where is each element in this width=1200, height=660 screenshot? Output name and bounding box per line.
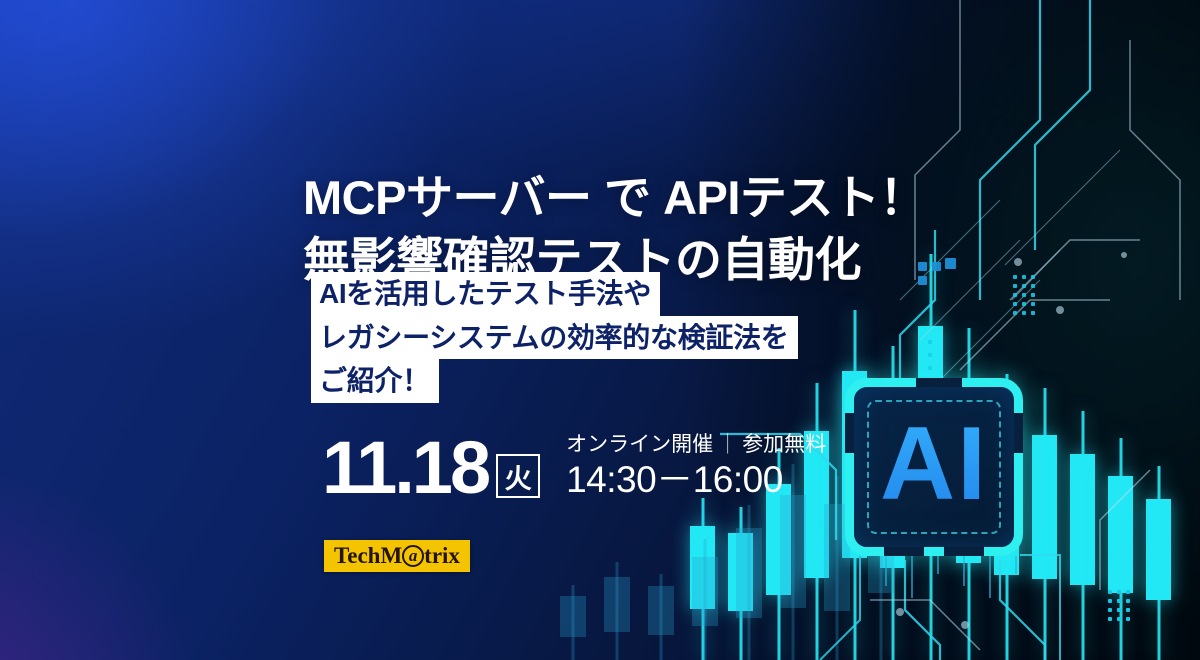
event-date: 11.18 火 bbox=[322, 434, 540, 502]
webinar-banner: AI MCPサーバー で APIテスト！ 無影響確認テストの自動化 AIを活用し… bbox=[0, 0, 1200, 660]
subtitle-block: AIを活用したテスト手法や レガシーシステムの効率的な検証法を ご紹介！ bbox=[311, 272, 798, 403]
banner-content: MCPサーバー で APIテスト！ 無影響確認テストの自動化 AIを活用したテス… bbox=[0, 0, 1200, 660]
event-datetime: 11.18 火 オンライン開催｜参加無料 14:30－16:00 bbox=[322, 432, 826, 502]
techmatrix-logo: TechM a trix bbox=[324, 540, 470, 572]
event-time: オンライン開催｜参加無料 14:30－16:00 bbox=[566, 432, 826, 498]
logo-text-before: TechM bbox=[334, 544, 402, 567]
logo-circled-a-icon: a bbox=[402, 545, 424, 567]
subtitle-line-2: レガシーシステムの効率的な検証法を bbox=[311, 316, 798, 360]
event-time-range: 14:30－16:00 bbox=[566, 461, 826, 498]
logo-circled-letter: a bbox=[409, 547, 418, 564]
subtitle-line-1: AIを活用したテスト手法や bbox=[311, 272, 660, 316]
event-meta: オンライン開催｜参加無料 bbox=[566, 432, 826, 457]
event-day-of-week-badge: 火 bbox=[496, 454, 540, 498]
event-format-label: オンライン開催 bbox=[566, 433, 713, 456]
logo-text-after: trix bbox=[424, 544, 460, 567]
event-fee-label: 参加無料 bbox=[742, 433, 826, 456]
title-line-1: MCPサーバー で APIテスト！ bbox=[303, 167, 943, 228]
event-date-number: 11.18 bbox=[322, 434, 488, 502]
subtitle-line-3: ご紹介！ bbox=[311, 359, 439, 403]
meta-separator: ｜ bbox=[717, 433, 738, 456]
